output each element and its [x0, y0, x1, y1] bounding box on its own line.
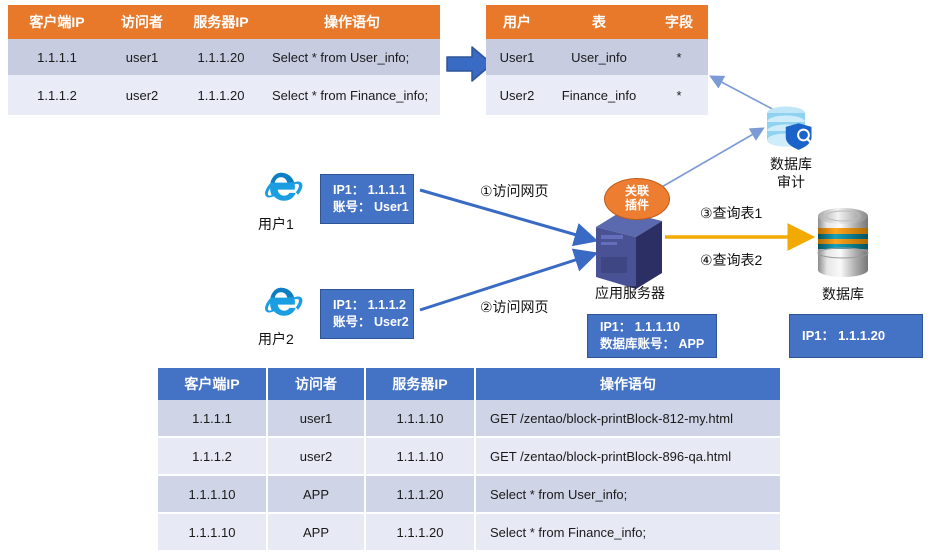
top-left-table: 客户端IP 访问者 服务器IP 操作语句 1.1.1.1 user1 1.1.1… — [8, 5, 440, 115]
cell-statement: Select * from Finance_info; — [475, 513, 780, 550]
table-row: 1.1.1.10 APP 1.1.1.20 Select * from User… — [158, 475, 780, 513]
table-row: User1 User_info * — [486, 39, 708, 75]
cell-server-ip: 1.1.1.10 — [365, 400, 475, 437]
cell-server-ip: 1.1.1.10 — [365, 437, 475, 475]
user1-icon — [258, 166, 304, 212]
col-header-server-ip: 服务器IP — [178, 5, 264, 39]
database-icon — [812, 206, 874, 284]
cell-client-ip: 1.1.1.2 — [158, 437, 267, 475]
cell-client-ip: 1.1.1.1 — [8, 39, 106, 75]
user1-label: 用户1 — [258, 214, 294, 234]
table-header-row: 客户端IP 访问者 服务器IP 操作语句 — [158, 368, 780, 400]
cell-user: User1 — [486, 39, 548, 75]
top-right-table: 用户 表 字段 User1 User_info * User2 Finance_… — [486, 5, 708, 115]
cell-visitor: user2 — [106, 75, 178, 115]
app-server-label: 应用服务器 — [582, 283, 678, 303]
table-row: 1.1.1.10 APP 1.1.1.20 Select * from Fina… — [158, 513, 780, 550]
user2-callout: IP1： 1.1.1.2 账号： User2 — [320, 289, 414, 339]
cell-user: User2 — [486, 75, 548, 115]
association-plugin-badge: 关联 插件 — [604, 178, 670, 220]
col-header-client-ip: 客户端IP — [158, 368, 267, 400]
user1-callout-account: 账号： User1 — [321, 199, 413, 216]
database-callout: IP1： 1.1.1.20 — [789, 314, 923, 358]
cell-server-ip: 1.1.1.20 — [178, 75, 264, 115]
cell-field: * — [650, 39, 708, 75]
database-audit-shield-icon — [762, 105, 818, 157]
cell-statement: Select * from Finance_info; — [264, 75, 440, 115]
cell-statement: GET /zentao/block-printBlock-812-my.html — [475, 400, 780, 437]
user1-callout: IP1： 1.1.1.1 账号： User1 — [320, 174, 414, 224]
bottom-table-wrap: 客户端IP 访问者 服务器IP 操作语句 1.1.1.1 user1 1.1.1… — [158, 368, 780, 550]
internet-explorer-icon — [258, 166, 304, 212]
table-row: User2 Finance_info * — [486, 75, 708, 115]
cell-table: User_info — [548, 39, 650, 75]
user1-callout-ip: IP1： 1.1.1.1 — [321, 182, 413, 199]
server-tower-icon — [592, 207, 666, 293]
app-server-callout: IP1： 1.1.1.10 数据库账号： APP — [587, 314, 717, 358]
table-row: 1.1.1.1 user1 1.1.1.10 GET /zentao/block… — [158, 400, 780, 437]
cell-visitor: APP — [267, 475, 365, 513]
table-header-row: 客户端IP 访问者 服务器IP 操作语句 — [8, 5, 440, 39]
user2-label: 用户2 — [258, 329, 294, 349]
cell-table: Finance_info — [548, 75, 650, 115]
col-header-table: 表 — [548, 5, 650, 39]
database-label: 数据库 — [803, 284, 883, 304]
database-cylinder-icon — [812, 206, 874, 284]
cell-statement: Select * from User_info; — [264, 39, 440, 75]
cell-server-ip: 1.1.1.20 — [178, 39, 264, 75]
col-header-statement: 操作语句 — [475, 368, 780, 400]
cell-server-ip: 1.1.1.20 — [365, 513, 475, 550]
db-audit-label-line1: 数据库 — [746, 156, 836, 174]
table-row: 1.1.1.2 user2 1.1.1.20 Select * from Fin… — [8, 75, 440, 115]
table-row: 1.1.1.1 user1 1.1.1.20 Select * from Use… — [8, 39, 440, 75]
app-server-icon — [592, 207, 666, 293]
step4-label: ④查询表2 — [700, 250, 762, 270]
cell-statement: GET /zentao/block-printBlock-896-qa.html — [475, 437, 780, 475]
cell-client-ip: 1.1.1.10 — [158, 475, 267, 513]
db-audit-label: 数据库 审计 — [746, 156, 836, 191]
cell-client-ip: 1.1.1.2 — [8, 75, 106, 115]
db-audit-icon — [762, 105, 818, 157]
internet-explorer-icon — [258, 281, 304, 327]
col-header-statement: 操作语句 — [264, 5, 440, 39]
table-row: 1.1.1.2 user2 1.1.1.10 GET /zentao/block… — [158, 437, 780, 475]
cell-visitor: user1 — [106, 39, 178, 75]
col-header-server-ip: 服务器IP — [365, 368, 475, 400]
cell-visitor: APP — [267, 513, 365, 550]
top-left-table-wrap: 客户端IP 访问者 服务器IP 操作语句 1.1.1.1 user1 1.1.1… — [8, 5, 440, 115]
step1-label: ①访问网页 — [480, 181, 549, 201]
app-server-callout-ip: IP1： 1.1.1.10 — [588, 319, 716, 336]
cell-client-ip: 1.1.1.1 — [158, 400, 267, 437]
database-callout-ip: IP1： 1.1.1.20 — [790, 327, 922, 345]
user2-callout-ip: IP1： 1.1.1.2 — [321, 297, 413, 314]
cell-client-ip: 1.1.1.10 — [158, 513, 267, 550]
table-header-row: 用户 表 字段 — [486, 5, 708, 39]
cell-server-ip: 1.1.1.20 — [365, 475, 475, 513]
cell-field: * — [650, 75, 708, 115]
step2-label: ②访问网页 — [480, 297, 549, 317]
cell-visitor: user1 — [267, 400, 365, 437]
cell-visitor: user2 — [267, 437, 365, 475]
col-header-field: 字段 — [650, 5, 708, 39]
plugin-label-line1: 关联 — [625, 185, 649, 199]
plugin-label-line2: 插件 — [625, 199, 649, 213]
user2-icon — [258, 281, 304, 327]
cell-statement: Select * from User_info; — [475, 475, 780, 513]
step3-label: ③查询表1 — [700, 203, 762, 223]
col-header-user: 用户 — [486, 5, 548, 39]
bottom-table: 客户端IP 访问者 服务器IP 操作语句 1.1.1.1 user1 1.1.1… — [158, 368, 780, 550]
col-header-client-ip: 客户端IP — [8, 5, 106, 39]
user2-callout-account: 账号： User2 — [321, 314, 413, 331]
top-right-table-wrap: 用户 表 字段 User1 User_info * User2 Finance_… — [486, 5, 708, 115]
app-server-callout-account: 数据库账号： APP — [588, 336, 716, 353]
db-audit-label-line2: 审计 — [746, 174, 836, 192]
col-header-visitor: 访问者 — [106, 5, 178, 39]
col-header-visitor: 访问者 — [267, 368, 365, 400]
